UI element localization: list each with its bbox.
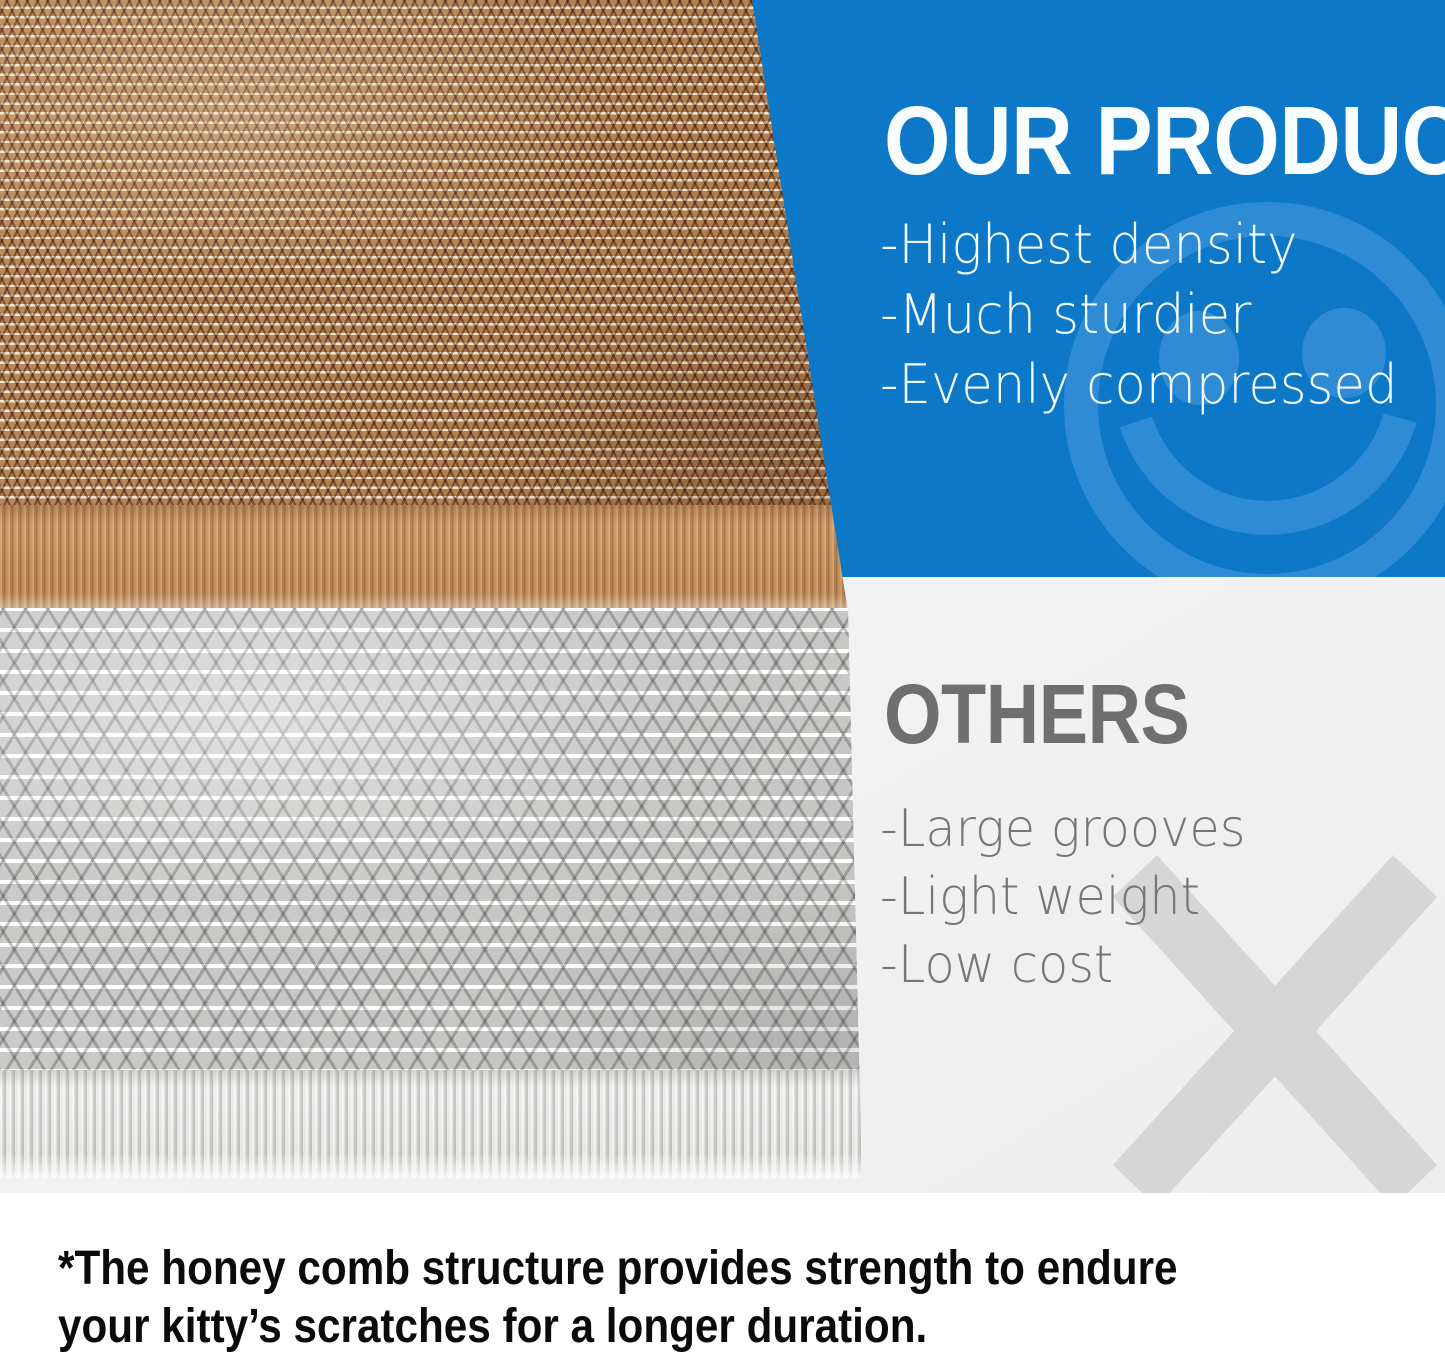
others-bullet-2: -Light weight [880,863,1245,931]
brown-cardboard-edge [0,505,860,615]
our-product-bullet-list: -Highest density -Much sturdier -Evenly … [880,210,1425,420]
our-product-bullet-1: -Highest density [880,210,1398,280]
others-bullet-3: -Low cost [880,931,1245,999]
brown-cardboard-photo [0,0,860,615]
white-honeycomb-surface [0,608,880,1073]
others-bullet-1: -Large grooves [880,795,1245,863]
footnote: *The honey comb structure provides stren… [58,1240,1246,1356]
white-cardboard-edge [0,1070,880,1182]
footnote-line-1: *The honey comb structure provides stren… [58,1240,1246,1298]
our-product-heading: OUR PRODUCT [884,92,1445,189]
brown-honeycomb-surface [0,0,860,508]
others-bullet-list: -Large grooves -Light weight -Low cost [880,795,1265,999]
our-product-bullet-2: -Much sturdier [880,280,1398,350]
white-cardboard-photo [0,608,880,1188]
infographic-canvas: OUR PRODUCT -Highest density -Much sturd… [0,0,1445,1372]
others-heading-wrap: OTHERS [884,672,1231,756]
our-product-heading-wrap: OUR PRODUCT [884,92,1445,189]
others-heading: OTHERS [884,672,1189,756]
footnote-line-2: your kitty’s scratches for a longer dura… [58,1298,1246,1356]
our-product-bullet-3: -Evenly compressed [880,350,1398,420]
